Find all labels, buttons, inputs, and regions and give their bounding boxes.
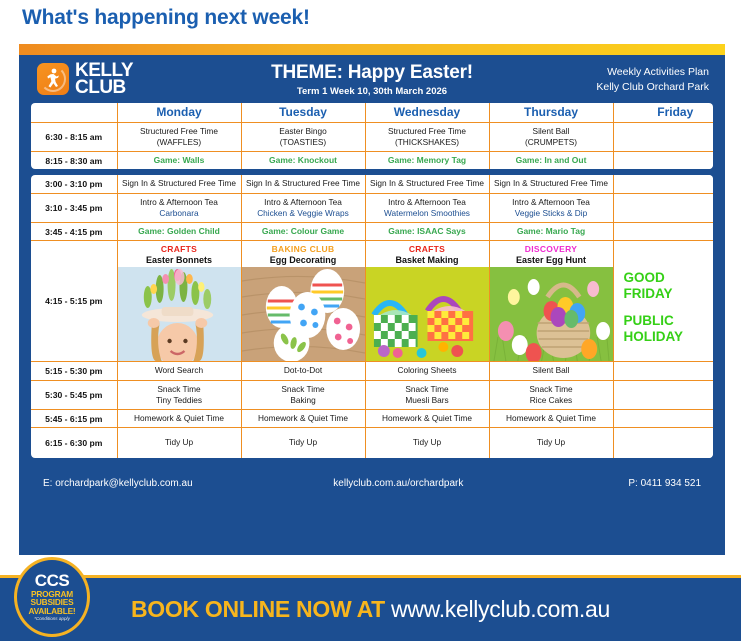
activity-cell: Sign In & Structured Free Time (241, 175, 365, 193)
activity-main: Structured Free Time (140, 126, 218, 136)
game-cell: Game: Colour Game (241, 222, 365, 240)
contact-phone[interactable]: P: 0411 934 521 (517, 478, 701, 489)
activity-cell: Easter Bingo(TOASTIES) (241, 122, 365, 151)
day-header-row: Monday Tuesday Wednesday Thursday Friday (31, 103, 713, 122)
friday-public-holiday-cell: GOOD FRIDAY PUBLIC HOLIDAY (613, 241, 713, 362)
table-row: 5:30 - 5:45 pm Snack TimeTiny Teddies Sn… (31, 380, 713, 409)
activity-main: Dot-to-Dot (284, 365, 322, 375)
page-title: What's happening next week! (22, 6, 310, 30)
game-cell: Game: Walls (117, 151, 241, 169)
activity-cell: Homework & Quiet Time (365, 409, 489, 427)
game-cell: Game: ISAAC Says (365, 222, 489, 240)
contact-website[interactable]: kellyclub.com.au/orchardpark (280, 478, 517, 489)
activity-cell: Homework & Quiet Time (117, 409, 241, 427)
activity-sub: Watermelon Smoothies (369, 208, 486, 219)
holiday-notice: GOOD FRIDAY PUBLIC HOLIDAY (614, 258, 714, 344)
game-label: Game: Colour Game (262, 226, 344, 236)
activity-sub: Muesli Bars (369, 395, 486, 406)
decorated-easter-eggs-in-nest-photo (242, 267, 365, 361)
logo-wordmark: KELLY CLUB (75, 62, 133, 97)
activity-cell: Homework & Quiet Time (489, 409, 613, 427)
activity-cell: Structured Free Time(THICKSHAKES) (365, 122, 489, 151)
activity-main: Intro & Afternoon Tea (140, 197, 218, 207)
activity-main: Silent Ball (533, 126, 570, 136)
woven-easter-baskets-photo (366, 267, 489, 361)
time-label: 6:15 - 6:30 pm (31, 428, 117, 458)
activity-card-label: DISCOVERY Easter Egg Hunt (490, 241, 613, 267)
corner-cell (31, 103, 117, 122)
activity-sub: Baking (245, 395, 362, 406)
activity-category: BAKING CLUB (242, 244, 365, 254)
activity-cell: Homework & Quiet Time (241, 409, 365, 427)
activity-cell-empty (613, 380, 713, 409)
game-label: Game: Mario Tag (517, 226, 585, 236)
activity-cell-empty (613, 175, 713, 193)
time-label: 3:45 - 4:15 pm (31, 222, 117, 240)
activity-main: Tidy Up (289, 437, 317, 447)
game-cell-empty (613, 151, 713, 169)
activity-cell: Intro & Afternoon TeaChicken & Veggie Wr… (241, 193, 365, 222)
game-cell: Game: In and Out (489, 151, 613, 169)
game-cell-empty (613, 222, 713, 240)
activity-main: Intro & Afternoon Tea (512, 197, 590, 207)
activity-main: Homework & Quiet Time (134, 413, 224, 423)
activity-main: Structured Free Time (388, 126, 466, 136)
holiday-line-1: GOOD (624, 270, 665, 285)
activity-main: Tidy Up (165, 437, 193, 447)
activity-main: Snack Time (281, 384, 324, 394)
banner-url: www.kellyclub.com.au (391, 596, 610, 622)
table-row: 3:10 - 3:45 pm Intro & Afternoon TeaCarb… (31, 193, 713, 222)
activity-main: Tidy Up (537, 437, 565, 447)
activity-sub: (CRUMPETS) (493, 137, 610, 148)
activity-cell: Sign In & Structured Free Time (365, 175, 489, 193)
game-label: Game: Memory Tag (388, 155, 466, 165)
activity-name: Basket Making (366, 255, 489, 265)
logo-line-club: CLUB (75, 79, 133, 96)
activity-cell: Intro & Afternoon TeaVeggie Sticks & Dip (489, 193, 613, 222)
activity-main: Sign In & Structured Free Time (122, 178, 236, 188)
afternoon-session-table-block: 3:00 - 3:10 pm Sign In & Structured Free… (31, 175, 713, 457)
morning-session-table: Monday Tuesday Wednesday Thursday Friday… (31, 103, 713, 169)
activity-category: CRAFTS (118, 244, 241, 254)
table-row: 3:00 - 3:10 pm Sign In & Structured Free… (31, 175, 713, 193)
contact-strip: E: orchardpark@kellyclub.com.au kellyclu… (19, 464, 725, 498)
book-online-banner[interactable]: BOOK ONLINE NOW AT www.kellyclub.com.au (0, 575, 741, 641)
activity-cell: Structured Free Time(WAFFLES) (117, 122, 241, 151)
girl-wearing-easter-bonnet-photo (118, 267, 241, 361)
activity-cell-empty (613, 409, 713, 427)
afternoon-session-table: 3:00 - 3:10 pm Sign In & Structured Free… (31, 175, 713, 457)
ccs-line-available: AVAILABLE! (28, 607, 75, 615)
activity-cell: Snack TimeTiny Teddies (117, 380, 241, 409)
running-figure-icon (37, 63, 69, 95)
activity-sub: Tiny Teddies (121, 395, 238, 406)
activity-sub: (WAFFLES) (121, 137, 238, 148)
time-label: 5:45 - 6:15 pm (31, 409, 117, 427)
activity-cell: Snack TimeRice Cakes (489, 380, 613, 409)
activity-cell: Sign In & Structured Free Time (489, 175, 613, 193)
activity-category: CRAFTS (366, 244, 489, 254)
centre-name: Kelly Club Orchard Park (596, 80, 709, 95)
game-label: Game: ISAAC Says (388, 226, 465, 236)
activity-main: Snack Time (405, 384, 448, 394)
activity-cell: Dot-to-Dot (241, 362, 365, 380)
activity-cell: Tidy Up (117, 428, 241, 458)
poster-header-right: Weekly Activities Plan Kelly Club Orchar… (596, 65, 709, 95)
day-header-wednesday: Wednesday (365, 103, 489, 122)
morning-session-table-block: Monday Tuesday Wednesday Thursday Friday… (31, 103, 713, 169)
contact-email[interactable]: E: orchardpark@kellyclub.com.au (43, 478, 280, 489)
day-header-monday: Monday (117, 103, 241, 122)
game-cell: Game: Memory Tag (365, 151, 489, 169)
activity-cell: Intro & Afternoon TeaWatermelon Smoothie… (365, 193, 489, 222)
holiday-line-4: HOLIDAY (624, 329, 684, 344)
kelly-club-logo: KELLY CLUB (37, 62, 133, 97)
time-label: 5:15 - 5:30 pm (31, 362, 117, 380)
day-header-tuesday: Tuesday (241, 103, 365, 122)
activity-main: Homework & Quiet Time (506, 413, 596, 423)
time-label: 3:10 - 3:45 pm (31, 193, 117, 222)
activity-main: Homework & Quiet Time (258, 413, 348, 423)
day-header-friday: Friday (613, 103, 713, 122)
activity-category: DISCOVERY (490, 244, 613, 254)
activity-cell-empty (613, 193, 713, 222)
game-label: Game: Walls (154, 155, 205, 165)
activity-name: Egg Decorating (242, 255, 365, 265)
plan-label: Weekly Activities Plan (596, 65, 709, 80)
time-label: 5:30 - 5:45 pm (31, 380, 117, 409)
activity-sub: Carbonara (121, 208, 238, 219)
activity-main: Intro & Afternoon Tea (388, 197, 466, 207)
activity-cell: Snack TimeBaking (241, 380, 365, 409)
activity-cell: Coloring Sheets (365, 362, 489, 380)
activity-sub: Chicken & Veggie Wraps (245, 208, 362, 219)
table-row: 8:15 - 8:30 am Game: Walls Game: Knockou… (31, 151, 713, 169)
activity-main: Snack Time (157, 384, 200, 394)
table-row: 6:30 - 8:15 am Structured Free Time(WAFF… (31, 122, 713, 151)
activity-main: Sign In & Structured Free Time (246, 178, 360, 188)
holiday-line-3: PUBLIC (624, 313, 674, 328)
table-row: 3:45 - 4:15 pm Game: Golden Child Game: … (31, 222, 713, 240)
activity-cell: Word Search (117, 362, 241, 380)
activity-main: Coloring Sheets (397, 365, 456, 375)
day-header-thursday: Thursday (489, 103, 613, 122)
ccs-conditions: *Conditions apply (34, 617, 70, 622)
game-label: Game: Knockout (269, 155, 337, 165)
holiday-line-2: FRIDAY (624, 286, 673, 301)
activity-cell: Silent Ball (489, 362, 613, 380)
weekly-activities-poster: KELLY CLUB THEME: Happy Easter! Term 1 W… (19, 44, 725, 555)
activity-card-wednesday: CRAFTS Basket Making (365, 241, 489, 362)
activity-sub: (THICKSHAKES) (369, 137, 486, 148)
activity-card-label: CRAFTS Basket Making (366, 241, 489, 267)
banner-cta: BOOK ONLINE NOW AT (131, 596, 385, 622)
activity-card-thursday: DISCOVERY Easter Egg Hunt (489, 241, 613, 362)
running-figure-glyph (47, 68, 60, 90)
activity-card-label: BAKING CLUB Egg Decorating (242, 241, 365, 267)
activity-main: Tidy Up (413, 437, 441, 447)
activity-main: Sign In & Structured Free Time (370, 178, 484, 188)
activity-name: Easter Bonnets (118, 255, 241, 265)
activity-sub: Veggie Sticks & Dip (493, 208, 610, 219)
activity-main: Silent Ball (533, 365, 570, 375)
time-label: 6:30 - 8:15 am (31, 122, 117, 151)
activity-card-tuesday: BAKING CLUB Egg Decorating (241, 241, 365, 362)
poster-top-gradient-bar (19, 44, 725, 55)
activity-cell: Tidy Up (365, 428, 489, 458)
ccs-acronym: CCS (35, 572, 69, 589)
activity-main: Word Search (155, 365, 203, 375)
activity-cell: Silent Ball(CRUMPETS) (489, 122, 613, 151)
table-row: 5:45 - 6:15 pm Homework & Quiet Time Hom… (31, 409, 713, 427)
time-label: 4:15 - 5:15 pm (31, 241, 117, 362)
activity-cell-empty (613, 362, 713, 380)
activity-cell: Intro & Afternoon TeaCarbonara (117, 193, 241, 222)
game-label: Game: In and Out (516, 155, 587, 165)
game-cell: Game: Mario Tag (489, 222, 613, 240)
activity-cell-empty (613, 122, 713, 151)
activity-main: Homework & Quiet Time (382, 413, 472, 423)
activity-cell: Tidy Up (489, 428, 613, 458)
activity-cell-empty (613, 428, 713, 458)
ccs-subsidy-badge: CCS PROGRAM SUBSIDIES AVAILABLE! *Condit… (14, 557, 90, 637)
activity-main: Snack Time (529, 384, 572, 394)
table-row: 5:15 - 5:30 pm Word Search Dot-to-Dot Co… (31, 362, 713, 380)
table-row: 6:15 - 6:30 pm Tidy Up Tidy Up Tidy Up T… (31, 428, 713, 458)
activity-card-monday: CRAFTS Easter Bonnets (117, 241, 241, 362)
easter-egg-hunt-basket-on-grass-photo (490, 267, 613, 361)
activity-card-label: CRAFTS Easter Bonnets (118, 241, 241, 267)
activity-sub: (TOASTIES) (245, 137, 362, 148)
game-label: Game: Golden Child (138, 226, 220, 236)
activity-cell: Sign In & Structured Free Time (117, 175, 241, 193)
game-cell: Game: Knockout (241, 151, 365, 169)
activity-main: Intro & Afternoon Tea (264, 197, 342, 207)
time-label: 8:15 - 8:30 am (31, 151, 117, 169)
activity-image-row: 4:15 - 5:15 pm CRAFTS Easter Bonnets (31, 241, 713, 362)
activity-main: Sign In & Structured Free Time (494, 178, 608, 188)
activity-main: Easter Bingo (279, 126, 327, 136)
activity-cell: Tidy Up (241, 428, 365, 458)
time-label: 3:00 - 3:10 pm (31, 175, 117, 193)
banner-text: BOOK ONLINE NOW AT www.kellyclub.com.au (131, 596, 610, 623)
game-cell: Game: Golden Child (117, 222, 241, 240)
activity-cell: Snack TimeMuesli Bars (365, 380, 489, 409)
activity-sub: Rice Cakes (493, 395, 610, 406)
activity-name: Easter Egg Hunt (490, 255, 613, 265)
poster-header: KELLY CLUB THEME: Happy Easter! Term 1 W… (19, 55, 725, 103)
